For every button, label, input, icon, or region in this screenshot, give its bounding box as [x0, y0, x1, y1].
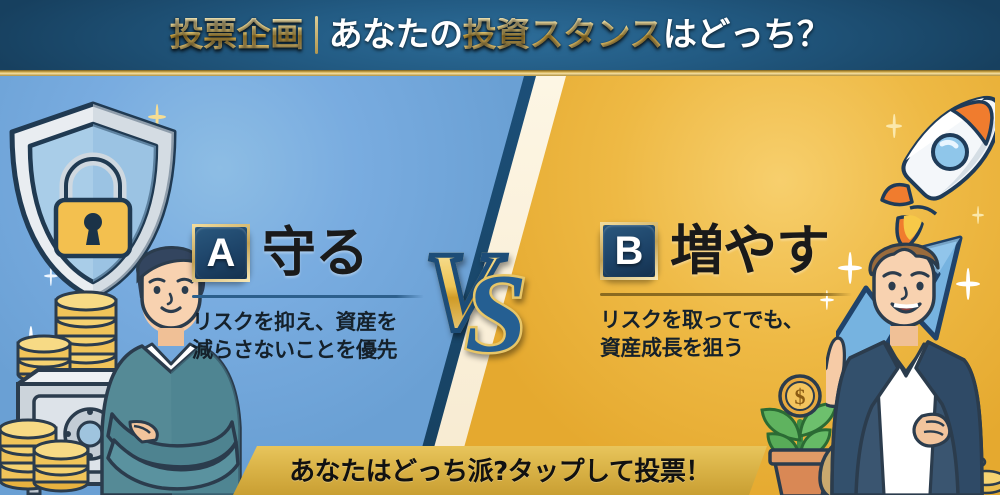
option-a-desc-line2: 減らさないことを優先	[192, 337, 424, 365]
option-b-badge: B	[600, 222, 658, 280]
vote-cta-bar[interactable]: あなたはどっち派?タップして投票！	[233, 446, 767, 495]
versus-s: S	[465, 258, 527, 370]
option-a-rule	[192, 295, 424, 298]
option-b-word: 増やす	[670, 224, 829, 278]
vote-cta-label: あなたはどっち派?タップして投票！	[289, 451, 711, 490]
header-question-part1: あなたの	[329, 18, 463, 52]
vote-banner: 投票企画 あなたの 投資スタンス はどっち？	[0, 0, 1000, 495]
header-divider	[315, 16, 318, 54]
option-a-description: リスクを抑え、資産を 減らさないことを優先	[192, 309, 424, 364]
option-a-word: 守る	[262, 226, 368, 280]
option-a-desc-line1: リスクを抑え、資産を	[192, 309, 424, 337]
option-b-desc-line2: 資産成長を狙う	[600, 335, 852, 363]
option-a-block[interactable]: A 守る リスクを抑え、資産を 減らさないことを優先	[192, 224, 424, 364]
svg-text:$: $	[795, 384, 806, 409]
option-b-desc-line1: リスクを取ってでも、	[600, 307, 852, 335]
header-campaign-label: 投票企画	[170, 18, 304, 52]
option-a-heading: A 守る	[192, 224, 424, 282]
stage: $ $	[0, 76, 1000, 495]
header-gold-rule	[0, 70, 1000, 76]
option-a-badge: A	[192, 224, 250, 282]
option-b-rule	[600, 293, 852, 296]
option-b-block[interactable]: B 増やす リスクを取ってでも、 資産成長を狙う	[600, 222, 852, 362]
versus-mark: VS	[424, 236, 527, 348]
option-b-heading: B 増やす	[600, 222, 852, 280]
option-b-description: リスクを取ってでも、 資産成長を狙う	[600, 307, 852, 362]
header-question-highlight: 投資スタンス	[463, 18, 663, 52]
header-question-part2: はどっち？	[663, 18, 831, 52]
header-title-group: 投票企画 あなたの 投資スタンス はどっち？	[0, 0, 1000, 70]
header-bar: 投票企画 あなたの 投資スタンス はどっち？	[0, 0, 1000, 70]
